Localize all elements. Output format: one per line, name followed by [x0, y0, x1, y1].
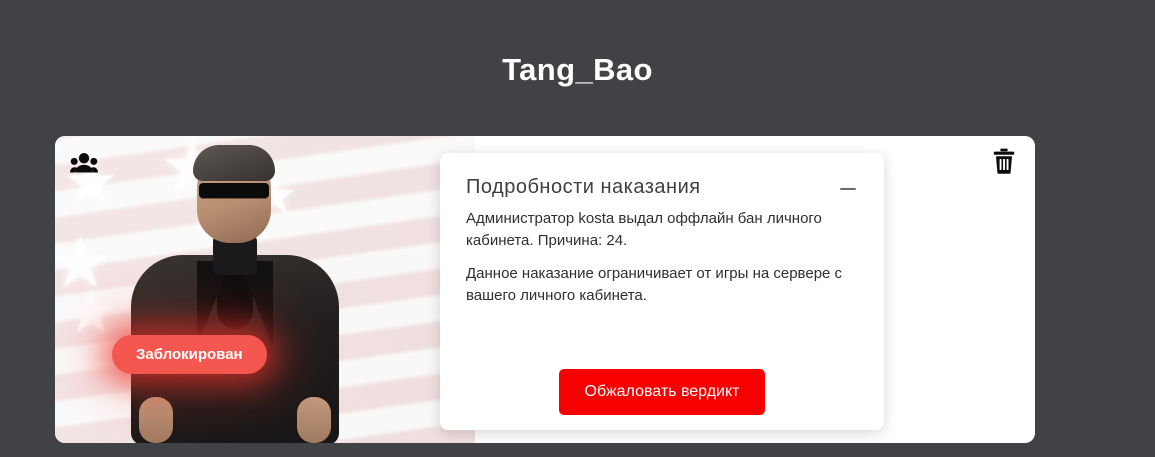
status-badge: Заблокирован	[112, 335, 267, 374]
character-hair	[193, 145, 275, 181]
punishment-details-panel: Подробности наказания Администратор kost…	[440, 153, 884, 430]
panel-title: Подробности наказания	[466, 175, 701, 199]
profile-card: ★ ★ ★ ★ ★ ★ ★ ★ Заблокирован	[55, 136, 1035, 443]
panel-footer: Обжаловать вердикт	[440, 369, 884, 415]
panel-body: Администратор kosta выдал оффлайн бан ли…	[466, 208, 858, 307]
minimize-dash-icon[interactable]	[838, 179, 858, 199]
users-group-icon[interactable]	[69, 148, 99, 178]
avatar: ★ ★ ★ ★ ★ ★ ★ ★	[55, 136, 475, 443]
punishment-reason-text: Администратор kosta выдал оффлайн бан ли…	[466, 208, 858, 252]
character-hand-left	[139, 397, 173, 443]
character-hand-right	[297, 397, 331, 443]
character-figure	[105, 143, 365, 443]
page-title: Tang_Bao	[0, 50, 1155, 90]
appeal-verdict-button[interactable]: Обжаловать вердикт	[559, 369, 766, 415]
panel-header: Подробности наказания	[466, 175, 858, 199]
sunglasses-icon	[199, 183, 269, 198]
punishment-scope-text: Данное наказание ограничивает от игры на…	[466, 263, 858, 307]
trash-icon[interactable]	[989, 146, 1019, 176]
